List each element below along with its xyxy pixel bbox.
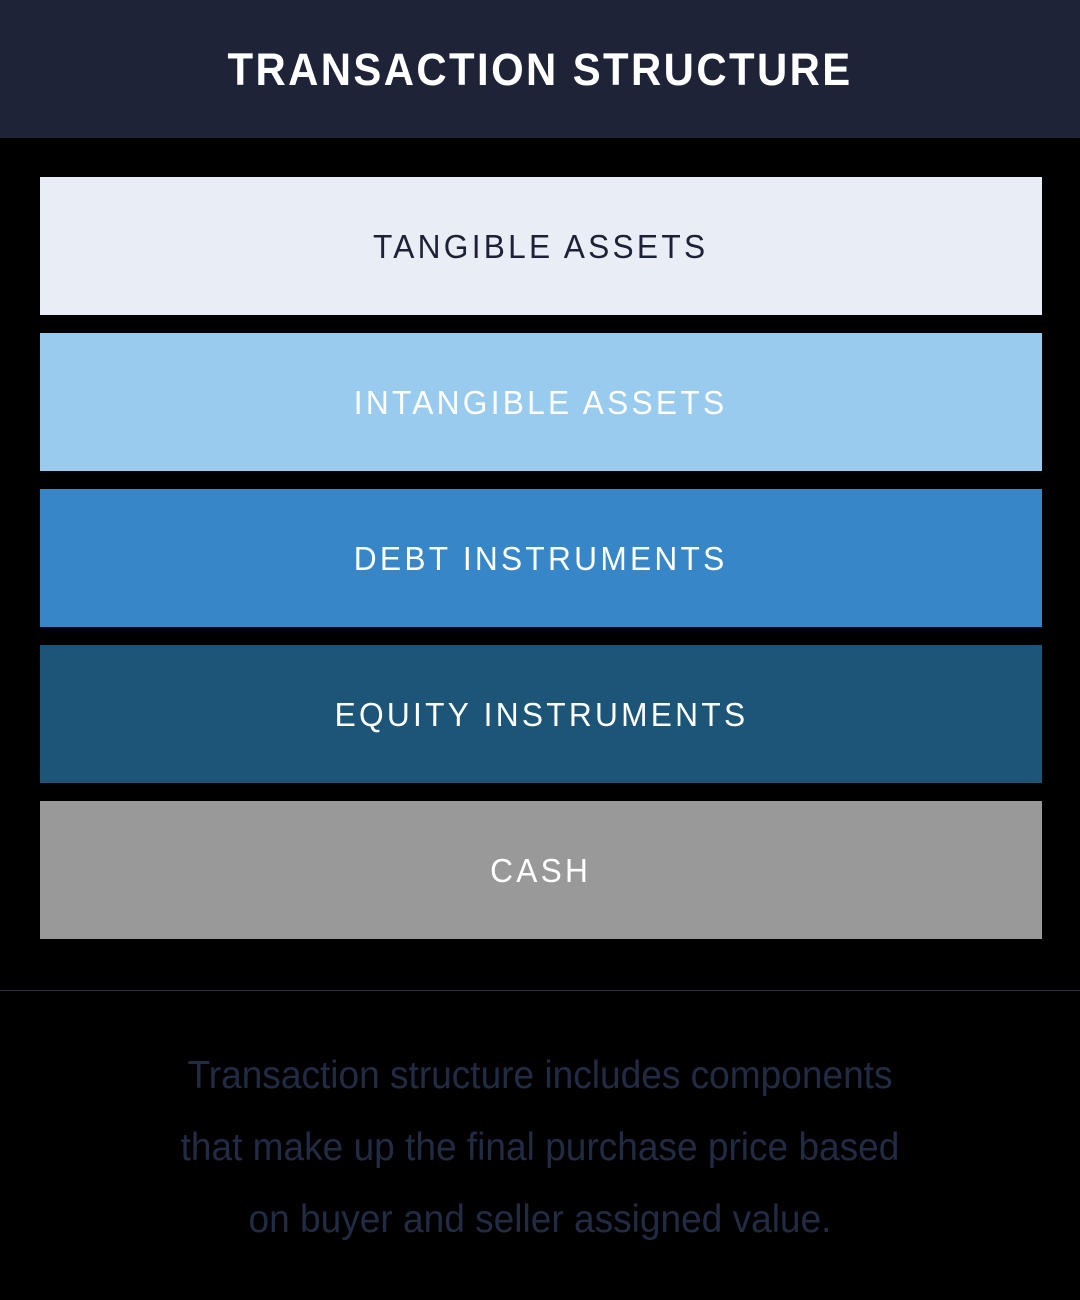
page-title: TRANSACTION STRUCTURE	[227, 47, 852, 92]
caption-line-2: that make up the final purchase price ba…	[113, 1112, 968, 1184]
bar-intangible-assets[interactable]: INTANGIBLE ASSETS	[40, 333, 1042, 471]
caption-line-3: on buyer and seller assigned value.	[113, 1184, 968, 1256]
bar-cash[interactable]: CASH	[40, 801, 1042, 939]
caption-line-1: Transaction structure includes component…	[113, 1040, 968, 1112]
bar-label-intangible-assets: INTANGIBLE ASSETS	[354, 386, 728, 419]
bar-label-cash: CASH	[490, 854, 591, 887]
bar-debt-instruments[interactable]: DEBT INSTRUMENTS	[40, 489, 1042, 627]
bar-equity-instruments[interactable]: EQUITY INSTRUMENTS	[40, 645, 1042, 783]
infographic-page: TRANSACTION STRUCTURE TANGIBLE ASSETS IN…	[0, 0, 1080, 1300]
bar-label-debt-instruments: DEBT INSTRUMENTS	[354, 542, 728, 575]
header-bar: TRANSACTION STRUCTURE	[0, 0, 1080, 138]
section-divider	[0, 990, 1080, 991]
transaction-structure-stack: TANGIBLE ASSETS INTANGIBLE ASSETS DEBT I…	[40, 177, 1042, 939]
bar-tangible-assets[interactable]: TANGIBLE ASSETS	[40, 177, 1042, 315]
bar-label-tangible-assets: TANGIBLE ASSETS	[373, 230, 708, 263]
bar-label-equity-instruments: EQUITY INSTRUMENTS	[334, 698, 748, 731]
caption-text: Transaction structure includes component…	[113, 1040, 968, 1256]
